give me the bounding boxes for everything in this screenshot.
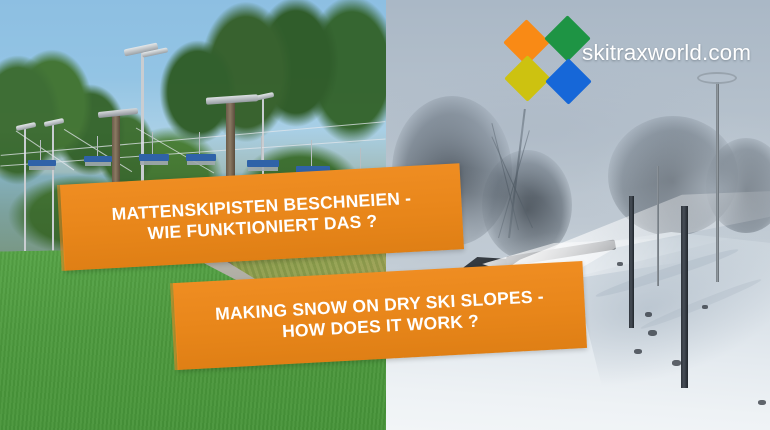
snow-debris <box>645 312 652 317</box>
lift-chair <box>186 154 216 161</box>
lift-pole <box>629 196 634 328</box>
snow-debris <box>634 349 642 354</box>
snow-debris <box>758 400 766 405</box>
lift-pole <box>681 206 688 388</box>
promo-graphic: skitraxworld.com MATTENSKIPISTEN BESCHNE… <box>0 0 770 430</box>
snow-debris <box>617 262 623 266</box>
chair-hanger <box>152 132 153 154</box>
chair-hanger <box>261 136 262 160</box>
snow-debris <box>672 360 681 366</box>
lift-chair <box>247 160 279 167</box>
lift-chair <box>139 154 169 161</box>
chair-hanger <box>97 136 98 156</box>
chair-hanger <box>199 132 200 154</box>
snow-debris <box>648 330 657 336</box>
light-mast <box>657 166 659 286</box>
snow-debris <box>702 305 708 309</box>
site-name-text: skitraxworld.com <box>582 40 751 66</box>
chair-hanger <box>40 140 41 160</box>
floodlight-mast <box>716 82 719 282</box>
lift-chair <box>84 156 112 162</box>
lift-chair <box>28 160 56 166</box>
site-logo[interactable]: skitraxworld.com <box>500 18 762 82</box>
chair-hanger <box>311 140 312 166</box>
